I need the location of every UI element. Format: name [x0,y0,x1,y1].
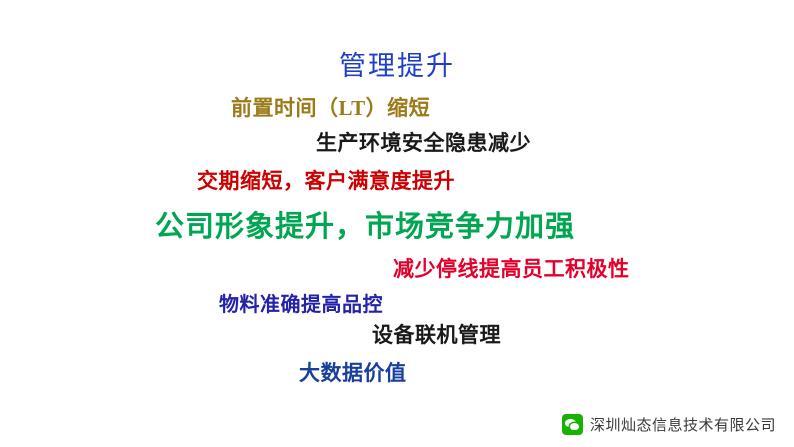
slide-title: 管理提升 [339,44,455,83]
benefit-line-equipment: 设备联机管理 [372,319,501,349]
benefit-line-image-competitiveness: 公司形象提升，市场竞争力加强 [155,203,575,245]
benefit-line-delivery: 交期缩短，客户满意度提升 [197,165,455,195]
benefit-line-line-stop: 减少停线提高员工积极性 [393,253,630,283]
watermark-label: 深圳灿态信息技术有限公司 [590,414,776,435]
wechat-icon [562,414,583,435]
benefit-line-safety: 生产环境安全隐患减少 [316,127,531,157]
watermark: 深圳灿态信息技术有限公司 [562,414,776,435]
benefit-line-big-data: 大数据价值 [299,357,407,387]
benefit-line-material-quality: 物料准确提高品控 [219,288,383,317]
benefit-line-lead-time: 前置时间（LT）缩短 [231,92,430,122]
slide-canvas: 管理提升 前置时间（LT）缩短 生产环境安全隐患减少 交期缩短，客户满意度提升 … [0,0,794,447]
